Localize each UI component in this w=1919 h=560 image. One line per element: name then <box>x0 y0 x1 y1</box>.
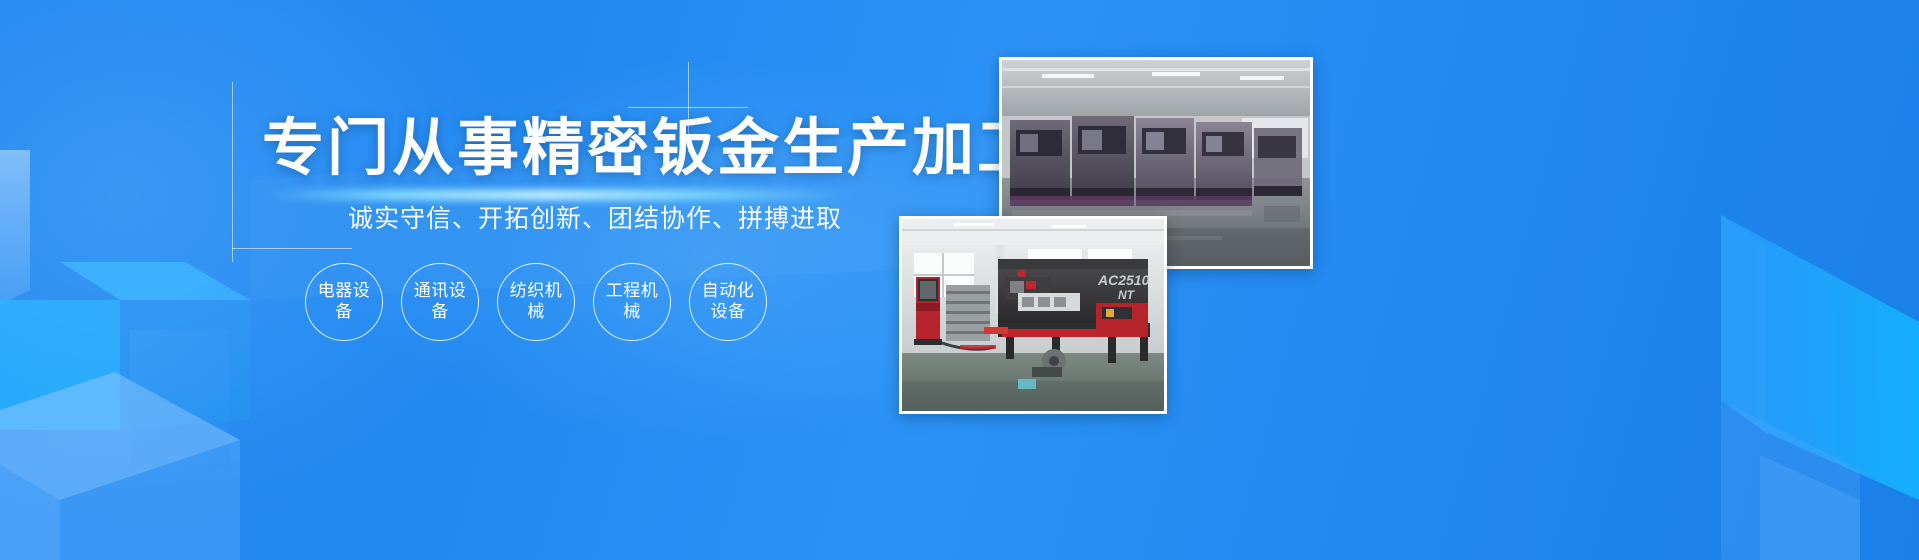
photo-amada-ac2510-nt-turret-punch: AC2510 NT <box>899 216 1167 414</box>
category-tag-label: 通讯设备 <box>414 281 467 322</box>
category-tag-communication-equipment[interactable]: 通讯设备 <box>401 263 479 341</box>
headline-underglow <box>266 190 852 200</box>
page-title: 专门从事精密钣金生产加工 <box>262 118 1042 180</box>
category-tag-engineering-machinery[interactable]: 工程机械 <box>593 263 671 341</box>
category-tag-electrical-equipment[interactable]: 电器设备 <box>305 263 383 341</box>
category-tag-textile-machinery[interactable]: 纺织机械 <box>497 263 575 341</box>
machine-model-suffix: NT <box>1118 288 1136 302</box>
category-tag-automation-equipment[interactable]: 自动化设备 <box>689 263 767 341</box>
category-tag-list: 电器设备 通讯设备 纺织机械 工程机械 自动化设备 <box>305 263 767 341</box>
category-tag-label: 纺织机械 <box>510 281 563 322</box>
category-tag-label: 电器设备 <box>318 281 371 322</box>
category-tag-label: 工程机械 <box>606 281 659 322</box>
photo-amada-ac2510-nt-image: AC2510 NT <box>902 219 1164 411</box>
category-tag-label: 自动化设备 <box>702 281 755 322</box>
machine-model-text: AC2510 <box>1097 272 1150 288</box>
banner-subtitle: 诚实守信、开拓创新、团结协作、拼搏进取 <box>348 204 842 234</box>
promo-banner: 专门从事精密钣金生产加工 诚实守信、开拓创新、团结协作、拼搏进取 电器设备 通讯… <box>0 0 1919 560</box>
